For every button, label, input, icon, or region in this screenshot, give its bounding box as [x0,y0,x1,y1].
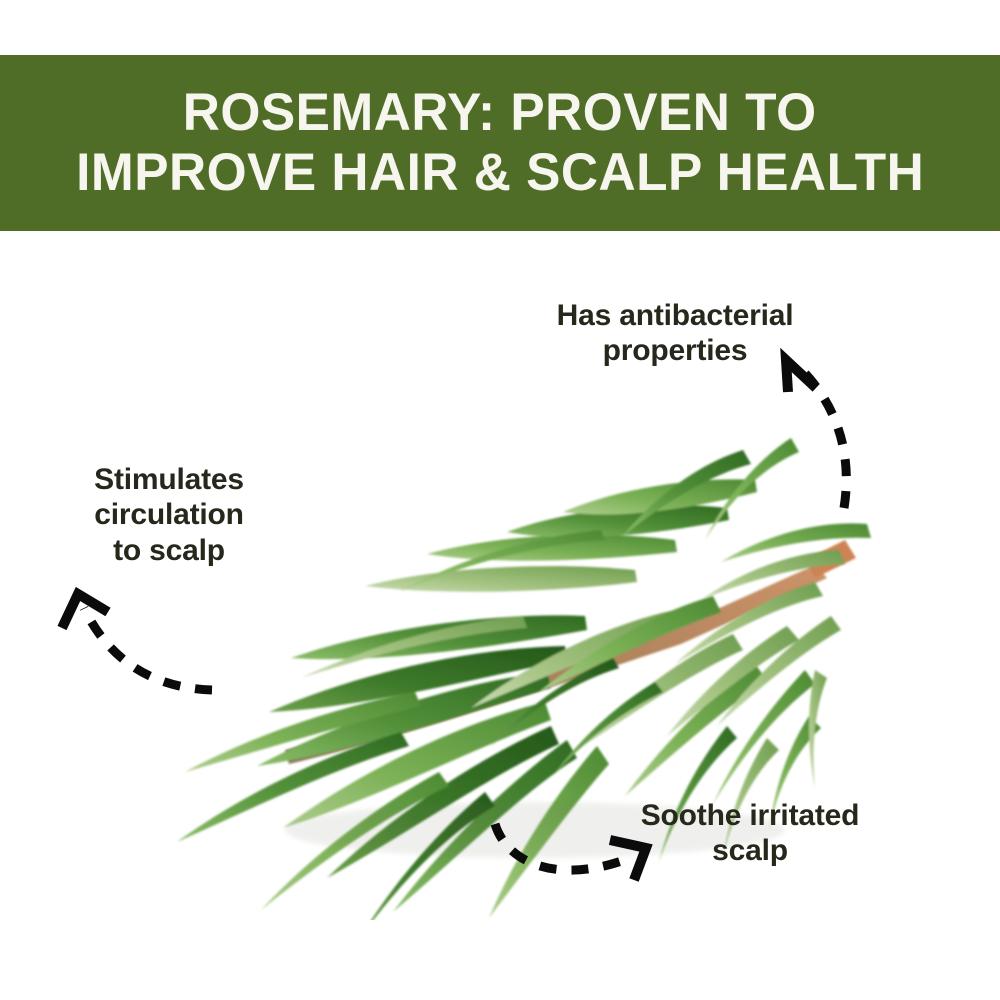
infographic-page: ROSEMARY: PROVEN TO IMPROVE HAIR & SCALP… [0,0,1000,1000]
header-banner: ROSEMARY: PROVEN TO IMPROVE HAIR & SCALP… [0,55,1000,231]
banner-title-line-2: IMPROVE HAIR & SCALP HEALTH [76,143,924,203]
callout-circulation-label: Stimulates circulation to scalp [45,462,293,568]
callout-soothe-label: Soothe irritated scalp [600,798,900,869]
callout-antibacterial-label: Has antibacterial properties [495,298,855,369]
banner-title-line-1: ROSEMARY: PROVEN TO [183,83,817,143]
